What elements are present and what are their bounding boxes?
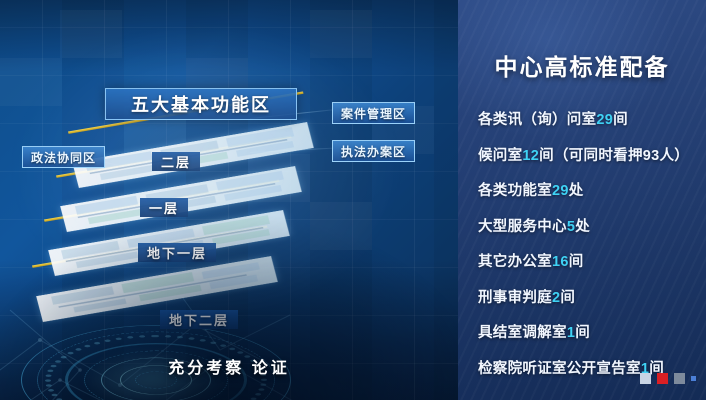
scene-vignette — [0, 0, 458, 400]
spec-item-suffix: 处 — [575, 219, 590, 235]
spec-item: 各类功能室29处 — [478, 179, 696, 200]
indicator-red — [657, 373, 668, 384]
panel-title-text: 中心高标准配备 — [495, 54, 670, 80]
info-panel: 中心高标准配备 各类讯（询）问室29间候问室12间（可同时看押93人）各类功能室… — [458, 0, 706, 400]
spec-item-suffix: 间 — [613, 112, 628, 128]
spec-item: 具结室调解室1间 — [478, 321, 696, 342]
spec-item: 大型服务中心5处 — [478, 215, 696, 236]
presentation-slide: 二层 一层 地下一层 地下二层 五大基本功能区 案件管理区 执法办案区 政法协同… — [0, 0, 706, 400]
scene-caption-text: 充分考察 论证 — [168, 360, 289, 377]
spec-item-prefix: 各类功能室 — [478, 183, 552, 199]
spec-item-number: 29 — [552, 183, 569, 199]
spec-item-number: 5 — [567, 219, 575, 235]
indicator-blue-dot — [691, 376, 696, 381]
building-3d-scene: 二层 一层 地下一层 地下二层 五大基本功能区 案件管理区 执法办案区 政法协同… — [0, 0, 458, 400]
spec-item-suffix: 处 — [569, 183, 584, 199]
spec-item-prefix: 具结室调解室 — [478, 325, 567, 341]
spec-item: 其它办公室16间 — [478, 250, 696, 271]
indicator-white — [640, 373, 651, 384]
spec-item-suffix: 间 — [569, 254, 584, 270]
spec-item-number: 1 — [567, 325, 575, 341]
spec-item: 刑事审判庭2间 — [478, 286, 696, 307]
scene-caption: 充分考察 论证 — [0, 354, 458, 378]
spec-item-number: 12 — [522, 148, 539, 164]
indicator-gray — [674, 373, 685, 384]
spec-item-number: 29 — [596, 112, 613, 128]
panel-title: 中心高标准配备 — [458, 48, 706, 82]
spec-item-prefix: 刑事审判庭 — [478, 290, 552, 306]
panel-spec-list: 各类讯（询）问室29间候问室12间（可同时看押93人）各类功能室29处大型服务中… — [478, 108, 696, 392]
spec-item-prefix: 检察院听证室公开宣告室 — [478, 361, 641, 377]
spec-item: 候问室12间（可同时看押93人） — [478, 144, 696, 165]
spec-item-prefix: 各类讯（询）问室 — [478, 112, 596, 128]
spec-item-suffix: 间（可同时看押93人） — [539, 148, 689, 164]
spec-item-number: 16 — [552, 254, 569, 270]
panel-indicators — [640, 373, 696, 384]
spec-item: 各类讯（询）问室29间 — [478, 108, 696, 129]
spec-item-prefix: 候问室 — [478, 148, 522, 164]
spec-item-suffix: 间 — [575, 325, 590, 341]
spec-item-prefix: 大型服务中心 — [478, 219, 567, 235]
spec-item-suffix: 间 — [560, 290, 575, 306]
spec-item-prefix: 其它办公室 — [478, 254, 552, 270]
